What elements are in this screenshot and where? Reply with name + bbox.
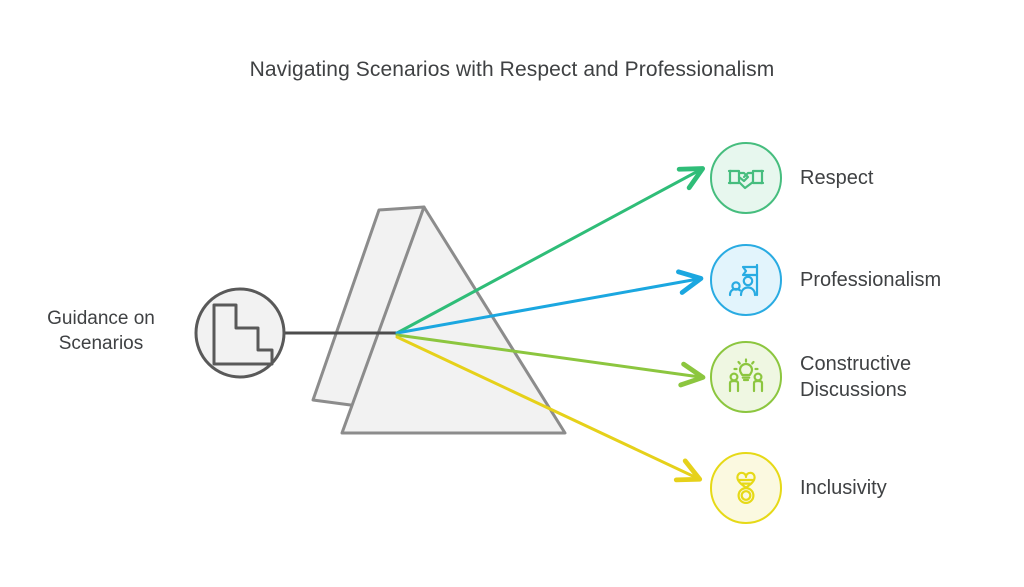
handshake-icon <box>726 158 766 198</box>
outcome-label-constructive-discussions: Constructive Discussions <box>800 351 911 403</box>
outcome-label-respect: Respect <box>800 165 873 191</box>
outcome-icon-circle-inclusivity <box>710 452 782 524</box>
outcome-item-constructive-discussions[interactable]: Constructive Discussions <box>710 341 911 413</box>
flag-people-icon <box>726 260 766 300</box>
outcome-item-inclusivity[interactable]: Inclusivity <box>710 452 887 524</box>
source-node-label: Guidance on Scenarios <box>12 306 190 356</box>
outcome-icon-circle-respect <box>710 142 782 214</box>
diagram-canvas: Navigating Scenarios with Respect and Pr… <box>0 0 1024 587</box>
outcome-label-inclusivity: Inclusivity <box>800 475 887 501</box>
outcome-item-respect[interactable]: Respect <box>710 142 873 214</box>
lightbulb-people-icon <box>726 357 766 397</box>
outcome-item-professionalism[interactable]: Professionalism <box>710 244 941 316</box>
heart-ring-icon <box>726 468 766 508</box>
outcome-label-professionalism: Professionalism <box>800 267 941 293</box>
outcome-icon-circle-constructive-discussions <box>710 341 782 413</box>
outcome-icon-circle-professionalism <box>710 244 782 316</box>
